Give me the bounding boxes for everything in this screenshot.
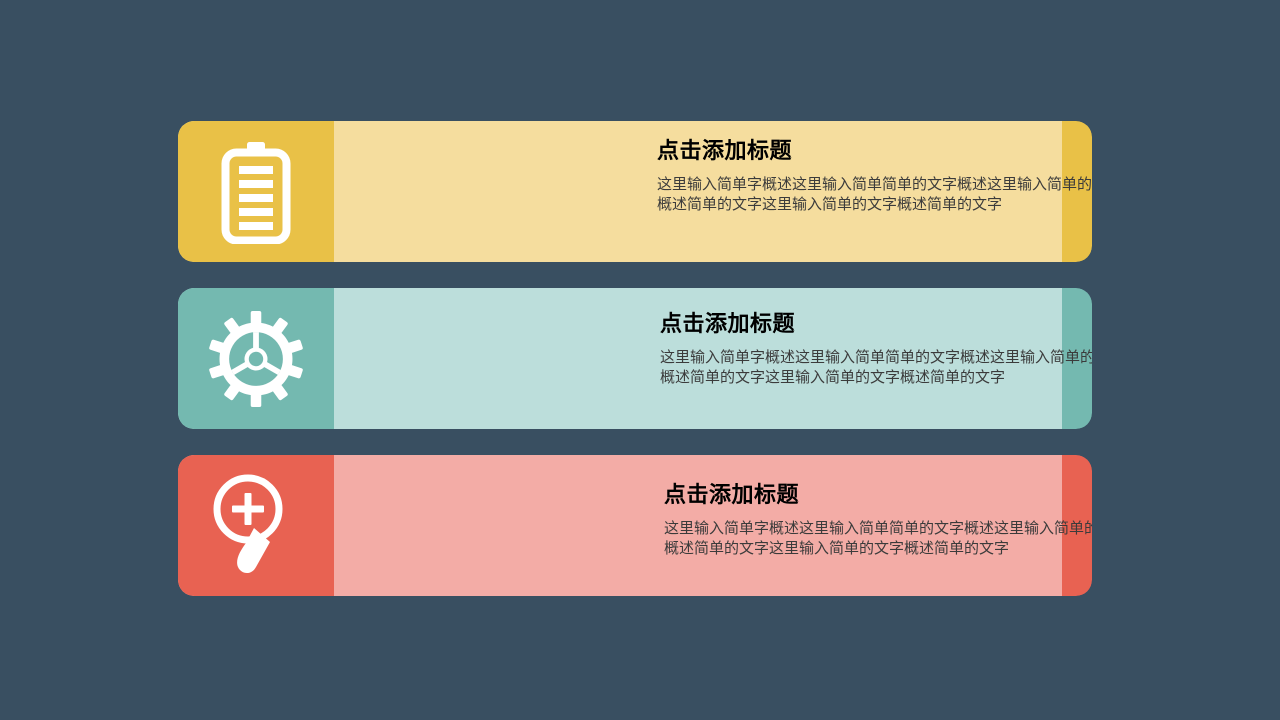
- list-item[interactable]: 点击添加标题 这里输入简单字概述这里输入简单简单的文字概述这里输入简单的文字概述…: [178, 121, 1092, 262]
- row-body-text: 这里输入简单字概述这里输入简单简单的文字概述这里输入简单的文字概述简单的文字这里…: [334, 163, 1092, 215]
- slide-canvas: 点击添加标题 这里输入简单字概述这里输入简单简单的文字概述这里输入简单的文字概述…: [0, 0, 1280, 720]
- list-item[interactable]: 点击添加标题 这里输入简单字概述这里输入简单简单的文字概述这里输入简单的文字概述…: [178, 455, 1092, 596]
- row-text-area: 点击添加标题 这里输入简单字概述这里输入简单简单的文字概述这里输入简单的文字概述…: [334, 121, 1062, 262]
- row-icon-block: [178, 121, 334, 262]
- row-icon-block: [178, 455, 334, 596]
- row-body-text: 这里输入简单字概述这里输入简单简单的文字概述这里输入简单的文字概述简单的文字这里…: [334, 507, 1092, 559]
- page-title: 点击添加标题: [334, 139, 1062, 163]
- row-text-area: 点击添加标题 这里输入简单字概述这里输入简单简单的文字概述这里输入简单的文字概述…: [334, 288, 1062, 429]
- row-body-text: 这里输入简单字概述这里输入简单简单的文字概述这里输入简单的文字概述简单的文字这里…: [334, 336, 1092, 388]
- battery-icon: [219, 140, 293, 244]
- content-rows: 点击添加标题 这里输入简单字概述这里输入简单简单的文字概述这里输入简单的文字概述…: [178, 121, 1092, 622]
- row-icon-block: [178, 288, 334, 429]
- magnifier-plus-icon: [210, 471, 302, 581]
- page-title: 点击添加标题: [334, 312, 1062, 336]
- row-text-area: 点击添加标题 这里输入简单字概述这里输入简单简单的文字概述这里输入简单的文字概述…: [334, 455, 1062, 596]
- list-item[interactable]: 点击添加标题 这里输入简单字概述这里输入简单简单的文字概述这里输入简单的文字概述…: [178, 288, 1092, 429]
- page-title: 点击添加标题: [334, 483, 1062, 507]
- gear-icon: [208, 311, 304, 407]
